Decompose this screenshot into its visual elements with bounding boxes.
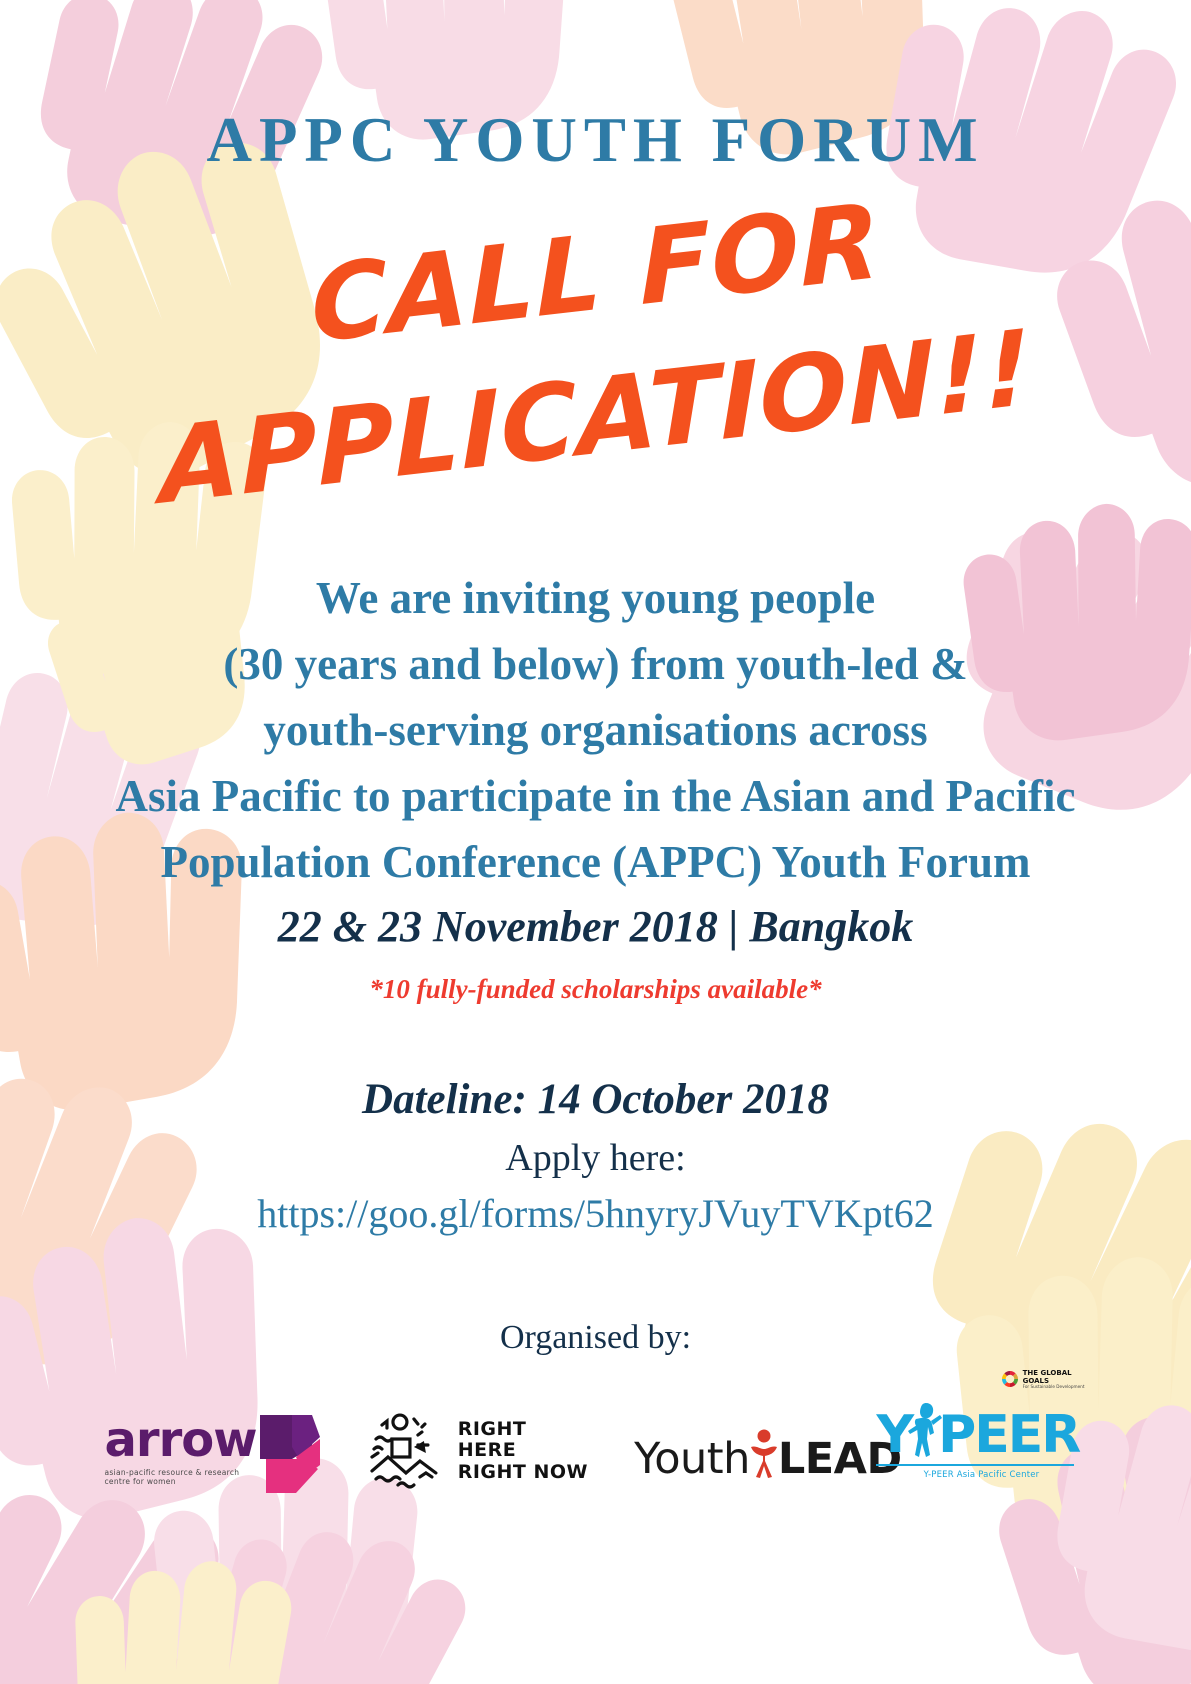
logo-youth-lead[interactable]: Youth LEAD	[634, 1415, 834, 1487]
ypeer-person-icon	[904, 1399, 944, 1465]
apply-here-label: Apply here:	[505, 1136, 685, 1180]
logo-ypeer[interactable]: THE GLOBAL GOALS For Sustainable Develop…	[876, 1395, 1086, 1507]
description-line: (30 years and below) from youth-led &	[116, 631, 1076, 697]
event-date: 22 & 23 November 2018 | Bangkok	[278, 901, 913, 952]
scholarship-note: *10 fully-funded scholarships available*	[369, 974, 821, 1005]
organised-by-label: Organised by:	[500, 1319, 691, 1357]
ypeer-tagline: Y-PEER Asia Pacific Center	[924, 1470, 1040, 1480]
description-block: We are inviting young people (30 years a…	[116, 565, 1076, 895]
global-goals-line-1: THE GLOBAL	[1023, 1369, 1085, 1377]
description-line: Population Conference (APPC) Youth Forum	[116, 829, 1076, 895]
rhrn-line-1: RIGHT HERE	[458, 1419, 592, 1462]
abstract-landscape-lineart-icon	[362, 1411, 446, 1491]
global-goals-badge: THE GLOBAL GOALS For Sustainable Develop…	[1000, 1369, 1085, 1390]
application-deadline: Dateline: 14 October 2018	[362, 1075, 829, 1124]
arrow-tagline: asian-pacific resource & research centre…	[105, 1468, 255, 1487]
poster-content: APPC YOUTH FORUM Call for Application!! …	[0, 0, 1191, 1684]
global-goals-sub: For Sustainable Development	[1023, 1385, 1085, 1390]
description-line: We are inviting young people	[116, 565, 1076, 631]
rhrn-line-2: RIGHT NOW	[458, 1462, 592, 1483]
poster-canvas: APPC YOUTH FORUM Call for Application!! …	[0, 0, 1191, 1684]
logo-right-here-right-now[interactable]: RIGHT HERE RIGHT NOW	[362, 1410, 592, 1492]
headline-group: Call for Application!!	[96, 215, 1096, 505]
woman-profile-arrow-icon	[252, 1407, 324, 1499]
rhrn-wordmark: RIGHT HERE RIGHT NOW	[458, 1419, 592, 1483]
description-line: Asia Pacific to participate in the Asian…	[116, 763, 1076, 829]
ypeer-word-peer: PEER	[938, 1409, 1079, 1461]
global-goals-text: THE GLOBAL GOALS For Sustainable Develop…	[1023, 1369, 1085, 1390]
logo-arrow[interactable]: arrow asian-pacific resource & research …	[105, 1405, 320, 1497]
red-person-figure-icon	[747, 1427, 781, 1479]
global-goals-wheel-icon	[1000, 1369, 1020, 1389]
organiser-logo-strip: arrow asian-pacific resource & research …	[91, 1391, 1101, 1511]
description-line: youth-serving organisations across	[116, 697, 1076, 763]
application-form-link[interactable]: https://goo.gl/forms/5hnyryJVuyTVKpt62	[257, 1190, 933, 1237]
youthlead-word-youth: Youth	[634, 1438, 750, 1481]
arrow-wordmark: arrow	[105, 1416, 257, 1464]
page-title: APPC YOUTH FORUM	[206, 104, 984, 177]
